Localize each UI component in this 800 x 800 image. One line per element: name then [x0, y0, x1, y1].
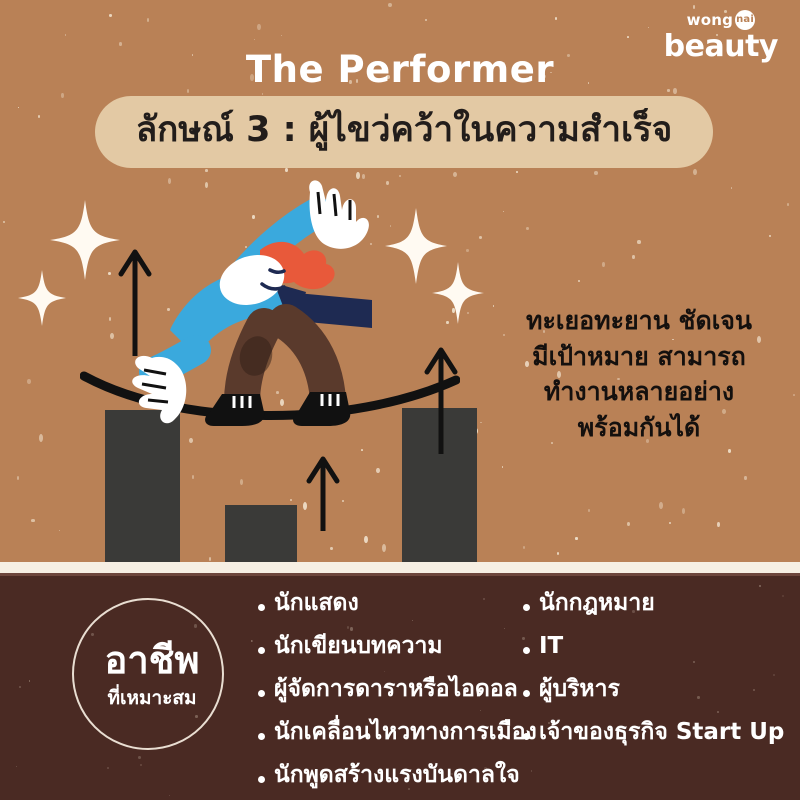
brand-nai-badge: nai: [735, 10, 755, 30]
bullet-icon: [523, 647, 530, 654]
brand-beauty-text: beauty: [664, 31, 778, 63]
description-line: พร้อมกันได้: [504, 410, 774, 446]
career-list-item: นักพูดสร้างแรงบันดาลใจ: [258, 764, 537, 787]
bullet-icon: [523, 733, 530, 740]
bullet-icon: [523, 690, 530, 697]
badge-title: อาชีพ: [105, 641, 200, 679]
brand-wongnai: wong nai: [664, 10, 778, 30]
career-list-item: นักแสดง: [258, 592, 537, 615]
bullet-icon: [258, 604, 265, 611]
career-label: เจ้าของธุรกิจ Start Up: [539, 721, 784, 744]
career-label: นักเขียนบทความ: [274, 635, 443, 658]
bullet-icon: [258, 690, 265, 697]
career-list-item: ผู้จัดการดาราหรือไอดอล: [258, 678, 537, 701]
description-line: ทำงานหลายอย่าง: [504, 374, 774, 410]
infographic-card: wong nai beauty The Performer ลักษณ์ 3 :…: [0, 0, 800, 800]
up-arrow-center: [306, 455, 340, 533]
title-pill: ลักษณ์ 3 : ผู้ไขว่คว้าในความสำเร็จ: [95, 96, 713, 168]
career-label: นักเคลื่อนไหวทางการเมือง: [274, 721, 537, 744]
careers-column-left: นักแสดงนักเขียนบทความผู้จัดการดาราหรือไอ…: [258, 592, 537, 800]
up-arrow-left: [118, 248, 152, 358]
career-list-item: ผู้บริหาร: [523, 678, 784, 701]
divider-strip: [0, 562, 800, 573]
chart-bar-left: [105, 410, 180, 565]
career-list-item: นักเขียนบทความ: [258, 635, 537, 658]
description-text: ทะเยอทะยาน ชัดเจนมีเป้าหมาย สามารถทำงานห…: [504, 303, 774, 445]
careers-column-right: นักกฎหมายITผู้บริหารเจ้าของธุรกิจ Start …: [523, 592, 784, 764]
illustration-tightrope-walker: [0, 180, 520, 565]
page-title: ลักษณ์ 3 : ผู้ไขว่คว้าในความสำเร็จ: [136, 113, 673, 152]
sparkle-icon-small-left: [18, 270, 66, 326]
up-arrow-right: [424, 346, 458, 456]
bullet-icon: [258, 776, 265, 783]
career-label: ผู้จัดการดาราหรือไอดอล: [274, 678, 518, 701]
bullet-icon: [258, 733, 265, 740]
career-list-item: นักเคลื่อนไหวทางการเมือง: [258, 721, 537, 744]
bullet-icon: [523, 604, 530, 611]
career-list-item: นักกฎหมาย: [523, 592, 784, 615]
career-list-item: เจ้าของธุรกิจ Start Up: [523, 721, 784, 744]
career-label: นักแสดง: [274, 592, 359, 615]
description-line: ทะเยอทะยาน ชัดเจน: [504, 303, 774, 339]
brand-logo: wong nai beauty: [664, 10, 778, 63]
sparkle-icon-large-left: [50, 200, 120, 280]
career-label: ผู้บริหาร: [539, 678, 620, 701]
walker-figure: [110, 180, 400, 430]
career-label: IT: [539, 635, 563, 658]
career-label: นักพูดสร้างแรงบันดาลใจ: [274, 764, 520, 787]
divider-line: [0, 573, 800, 576]
bullet-icon: [258, 647, 265, 654]
career-label: นักกฎหมาย: [539, 592, 655, 615]
chart-bar-middle: [225, 505, 297, 565]
description-line: มีเป้าหมาย สามารถ: [504, 339, 774, 375]
brand-wong-text: wong: [687, 13, 733, 28]
careers-badge: อาชีพ ที่เหมาะสม: [72, 604, 240, 744]
badge-subtitle: ที่เหมาะสม: [107, 689, 196, 708]
career-list-item: IT: [523, 635, 784, 658]
sparkle-icon-small-right: [432, 262, 484, 324]
